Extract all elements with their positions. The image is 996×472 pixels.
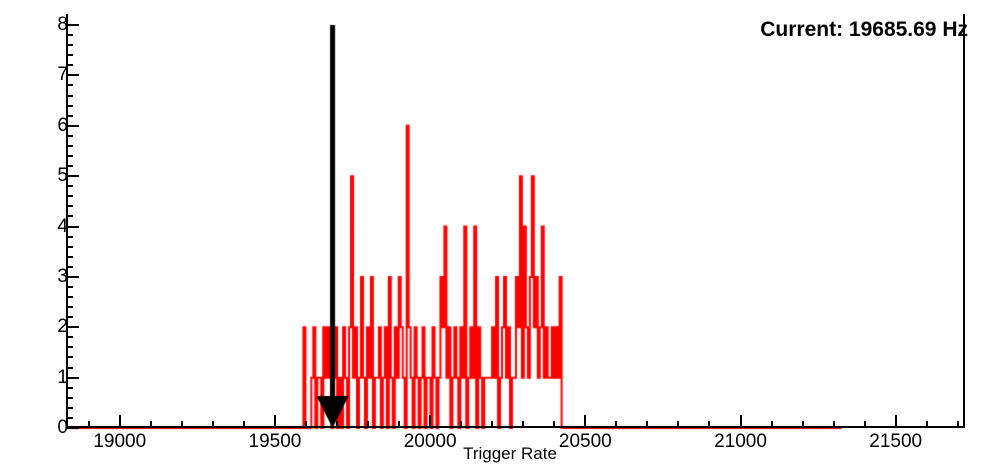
y-tick-minor: [66, 407, 73, 409]
x-tick-major: [274, 415, 276, 428]
y-tick-minor: [66, 356, 73, 358]
y-tick-minor: [66, 336, 73, 338]
x-tick-minor: [150, 421, 152, 428]
y-tick-minor: [66, 54, 73, 56]
x-tick-minor: [181, 421, 183, 428]
y-tick-minor: [66, 155, 73, 157]
y-tick-minor: [66, 145, 73, 147]
x-tick-label: 20000: [370, 432, 490, 451]
x-tick-label: 20500: [525, 432, 645, 451]
y-tick-minor: [66, 266, 73, 268]
y-tick-label: 8: [44, 15, 68, 34]
x-tick-minor: [336, 421, 338, 428]
x-tick-minor: [305, 421, 307, 428]
y-tick-label: 3: [44, 267, 68, 286]
y-tick-minor: [66, 316, 73, 318]
x-tick-minor: [615, 421, 617, 428]
x-tick-minor: [926, 421, 928, 428]
y-tick-minor: [66, 44, 73, 46]
x-tick-minor: [708, 421, 710, 428]
x-tick-minor: [367, 421, 369, 428]
y-tick-minor: [66, 185, 73, 187]
y-tick-minor: [66, 34, 73, 36]
x-tick-label: 19000: [60, 432, 180, 451]
x-tick-major: [429, 415, 431, 428]
y-tick-major: [66, 24, 79, 26]
x-tick-minor: [677, 421, 679, 428]
x-tick-minor: [522, 421, 524, 428]
x-tick-minor: [491, 421, 493, 428]
y-tick-minor: [66, 306, 73, 308]
x-tick-minor: [957, 421, 959, 428]
y-tick-minor: [66, 387, 73, 389]
y-tick-minor: [66, 165, 73, 167]
y-tick-minor: [66, 64, 73, 66]
y-tick-minor: [66, 296, 73, 298]
x-tick-minor: [88, 421, 90, 428]
y-tick-major: [66, 427, 79, 429]
plot-frame: [66, 14, 965, 428]
y-tick-minor: [66, 286, 73, 288]
y-tick-minor: [66, 205, 73, 207]
x-tick-minor: [771, 421, 773, 428]
y-tick-major: [66, 326, 79, 328]
y-tick-label: 6: [44, 116, 68, 135]
y-tick-label: 1: [44, 368, 68, 387]
x-tick-minor: [212, 421, 214, 428]
x-tick-minor: [460, 421, 462, 428]
x-tick-label: 21500: [836, 432, 956, 451]
y-tick-minor: [66, 135, 73, 137]
x-tick-label: 21000: [681, 432, 801, 451]
y-tick-minor: [66, 95, 73, 97]
x-tick-minor: [802, 421, 804, 428]
y-tick-minor: [66, 256, 73, 258]
x-tick-label: 19500: [215, 432, 335, 451]
histogram-plot-root: Current: 19685.69 Hz Trigger Rate 012345…: [0, 0, 996, 472]
y-tick-minor: [66, 84, 73, 86]
y-tick-major: [66, 276, 79, 278]
y-tick-label: 7: [44, 65, 68, 84]
x-tick-minor: [553, 421, 555, 428]
y-tick-label: 4: [44, 217, 68, 236]
y-tick-minor: [66, 115, 73, 117]
x-tick-minor: [864, 421, 866, 428]
current-rate-readout: Current: 19685.69 Hz: [760, 18, 968, 42]
x-tick-major: [740, 415, 742, 428]
x-tick-major: [895, 415, 897, 428]
x-tick-minor: [833, 421, 835, 428]
y-tick-major: [66, 226, 79, 228]
y-tick-minor: [66, 246, 73, 248]
y-tick-minor: [66, 367, 73, 369]
y-tick-minor: [66, 397, 73, 399]
y-tick-major: [66, 175, 79, 177]
y-tick-major: [66, 125, 79, 127]
x-tick-minor: [646, 421, 648, 428]
x-tick-minor: [243, 421, 245, 428]
y-tick-major: [66, 377, 79, 379]
y-tick-minor: [66, 195, 73, 197]
y-tick-minor: [66, 105, 73, 107]
y-tick-label: 5: [44, 166, 68, 185]
y-tick-major: [66, 74, 79, 76]
x-tick-major: [119, 415, 121, 428]
y-tick-minor: [66, 215, 73, 217]
x-tick-minor: [398, 421, 400, 428]
y-tick-minor: [66, 236, 73, 238]
x-tick-major: [584, 415, 586, 428]
y-tick-minor: [66, 346, 73, 348]
y-tick-label: 2: [44, 317, 68, 336]
y-tick-minor: [66, 417, 73, 419]
